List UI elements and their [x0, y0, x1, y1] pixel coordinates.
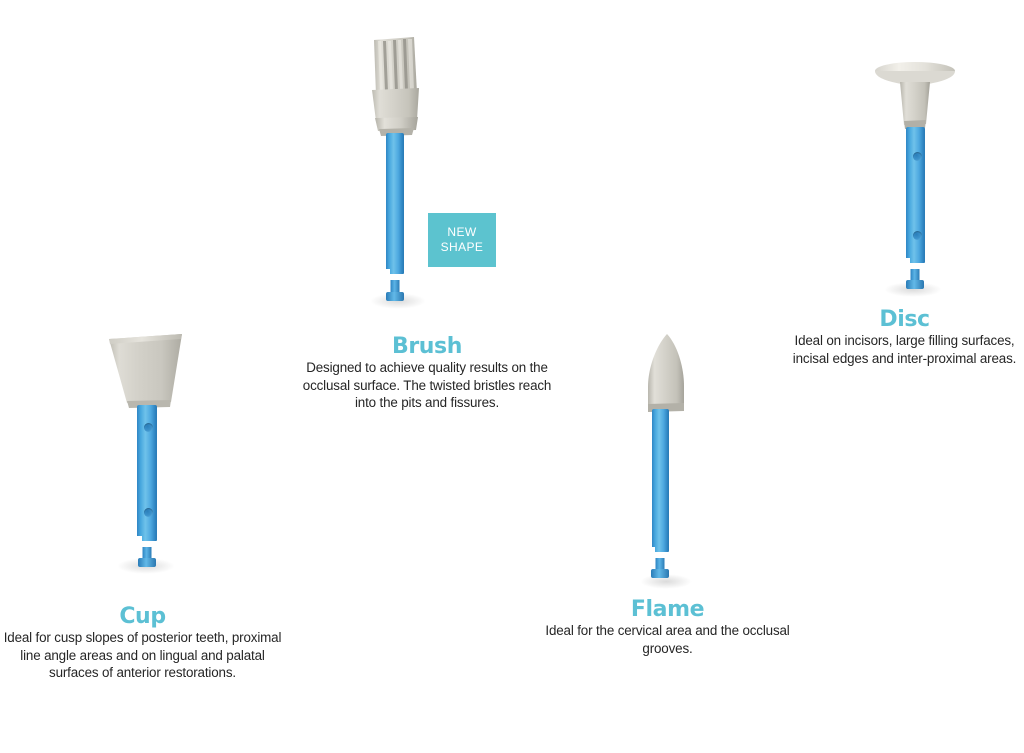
- flame-description: Ideal for the cervical area and the occl…: [545, 622, 790, 657]
- cup-latch-mount: [134, 536, 160, 572]
- product-brush: NEW SHAPE Brush Designed to achieve qual…: [272, 35, 562, 435]
- disc-description: Ideal on incisors, large filling surface…: [790, 332, 1019, 367]
- badge-line-1: NEW: [447, 225, 476, 240]
- cup-shank: [137, 405, 157, 541]
- product-disc: Disc Ideal on incisors, large filling su…: [790, 50, 1024, 400]
- shank-hole: [144, 508, 153, 517]
- product-showcase: Cup Ideal for cusp slopes of posterior t…: [0, 0, 1024, 753]
- shank-hole: [913, 231, 922, 240]
- latch-notch: [385, 269, 390, 280]
- brush-latch-mount: [383, 269, 407, 307]
- disc-shank: [906, 127, 925, 263]
- brush-description: Designed to achieve quality results on t…: [292, 359, 562, 412]
- cup-description: Ideal for cusp slopes of posterior teeth…: [0, 629, 285, 682]
- latch-flange: [138, 558, 156, 567]
- brush-caption: Brush Designed to achieve quality result…: [292, 335, 562, 412]
- shank-hole: [144, 423, 153, 432]
- brush-title: Brush: [292, 335, 562, 358]
- latch-notch: [137, 536, 142, 547]
- latch-flange: [386, 292, 404, 301]
- disc-caption: Disc Ideal on incisors, large filling su…: [790, 308, 1019, 367]
- cup-caption: Cup Ideal for cusp slopes of posterior t…: [0, 605, 285, 682]
- brush-polisher-icon: [360, 35, 440, 310]
- disc-polisher-icon: [860, 50, 970, 300]
- product-flame: Flame Ideal for the cervical area and th…: [545, 330, 795, 670]
- latch-flange: [651, 569, 669, 578]
- latch-flange: [906, 280, 924, 289]
- flame-caption: Flame Ideal for the cervical area and th…: [545, 598, 790, 657]
- disc-latch-mount: [902, 258, 928, 296]
- disc-title: Disc: [790, 308, 1019, 331]
- flame-title: Flame: [545, 598, 790, 621]
- new-shape-badge: NEW SHAPE: [428, 213, 496, 267]
- flame-shank: [652, 409, 669, 552]
- brush-shank: [386, 133, 404, 274]
- flame-polisher-icon: [630, 330, 705, 592]
- latch-notch: [650, 547, 655, 558]
- cup-polisher-icon: [101, 330, 191, 575]
- product-cup: Cup Ideal for cusp slopes of posterior t…: [0, 330, 290, 710]
- latch-notch: [905, 258, 910, 269]
- shank-hole: [913, 152, 922, 161]
- cup-title: Cup: [0, 605, 285, 628]
- badge-line-2: SHAPE: [441, 240, 484, 255]
- flame-latch-mount: [648, 547, 672, 585]
